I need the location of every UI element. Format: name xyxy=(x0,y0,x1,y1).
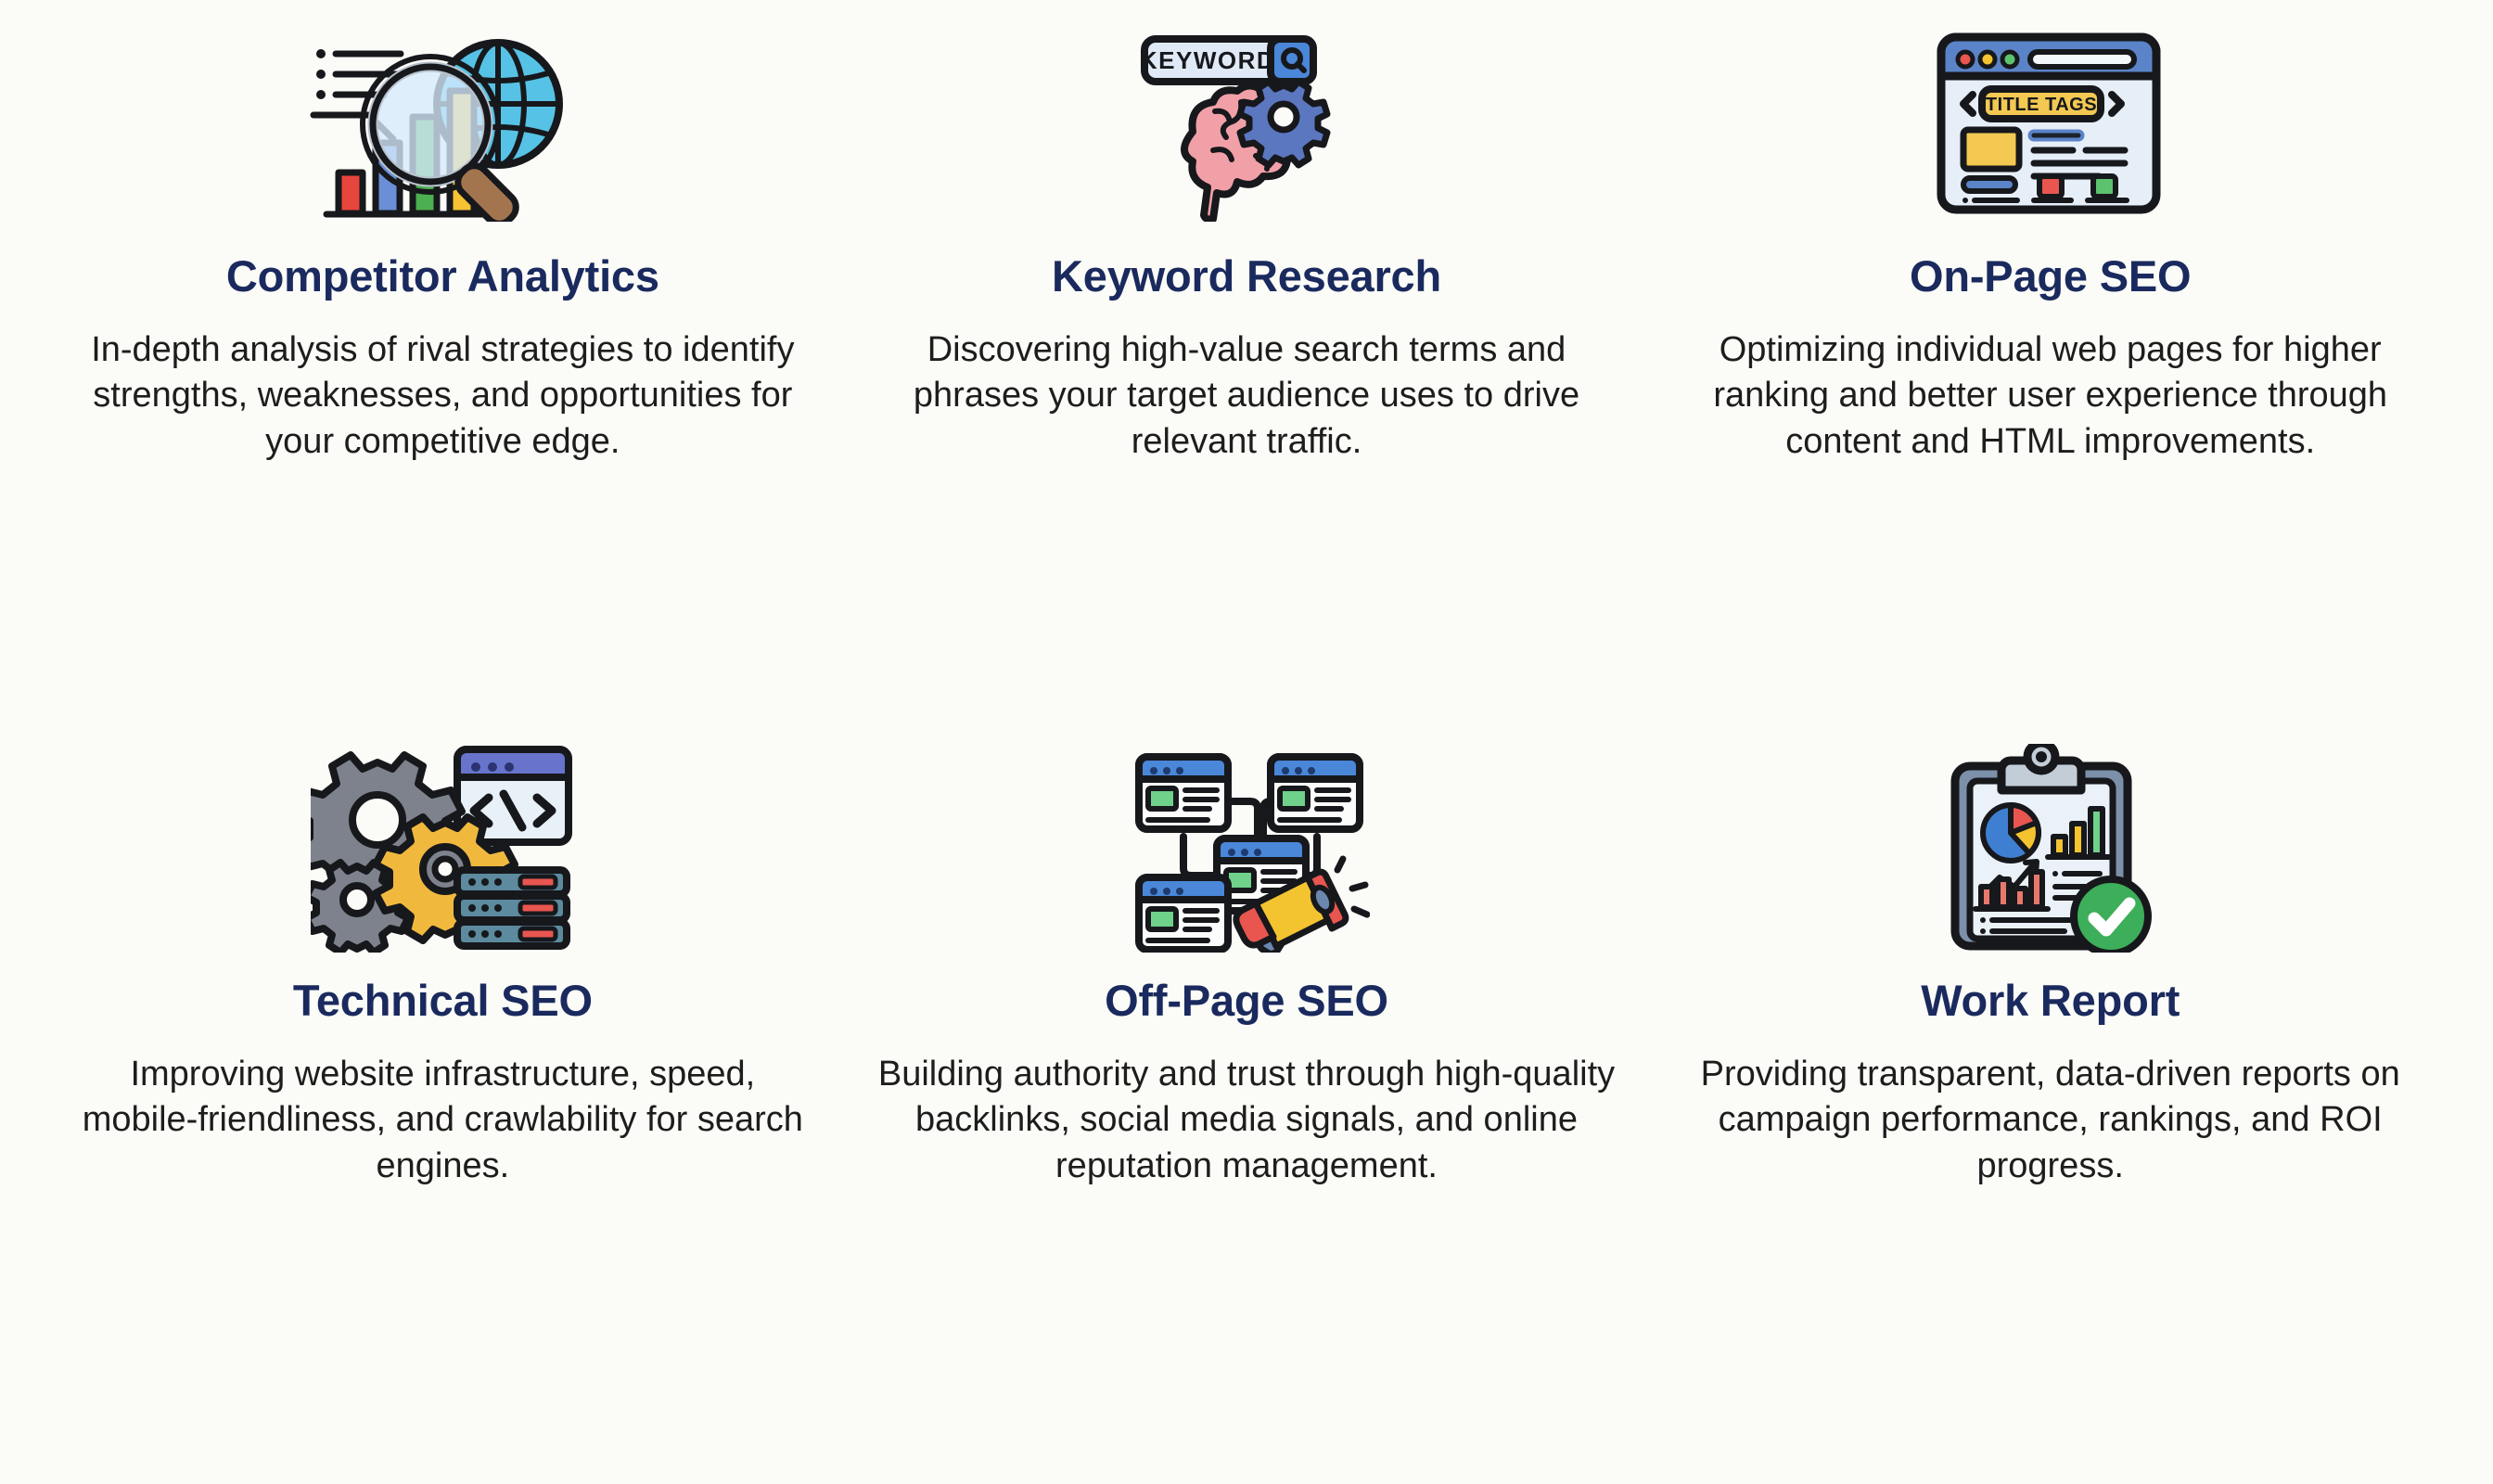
card-title: Technical SEO xyxy=(293,976,593,1026)
card-title: Competitor Analytics xyxy=(226,251,659,301)
card-description: Optimizing individual web pages for high… xyxy=(1680,327,2421,465)
feature-row-bottom: Technical SEO Improving website infrastr… xyxy=(41,744,2452,1456)
keyword-icon-label: KEYWORD xyxy=(1140,46,1275,74)
technical-seo-icon xyxy=(311,744,575,957)
card-title: Off-Page SEO xyxy=(1105,976,1388,1026)
title-tags-icon-label: TITLE TAGS xyxy=(1986,95,2097,115)
card-description: Building authority and trust through hig… xyxy=(876,1052,1617,1189)
off-page-seo-icon xyxy=(1124,744,1370,957)
feature-card-off-page-seo[interactable]: Off-Page SEO Building authority and trus… xyxy=(845,744,1649,1456)
card-description: In-depth analysis of rival strategies to… xyxy=(72,327,813,465)
work-report-icon xyxy=(1935,744,2167,957)
card-title: Work Report xyxy=(1921,976,2180,1026)
feature-row-top: Competitor Analytics In-depth analysis o… xyxy=(41,32,2452,744)
card-description: Improving website infrastructure, speed,… xyxy=(72,1052,813,1189)
on-page-seo-icon: TITLE TAGS xyxy=(1932,32,2168,231)
competitor-analytics-icon xyxy=(308,32,577,231)
card-description: Providing transparent, data-driven repor… xyxy=(1680,1052,2421,1189)
keyword-research-icon: KEYWORD xyxy=(1126,32,1367,231)
feature-card-technical-seo[interactable]: Technical SEO Improving website infrastr… xyxy=(41,744,845,1456)
card-title: On-Page SEO xyxy=(1910,251,2191,301)
feature-grid-page: Competitor Analytics In-depth analysis o… xyxy=(0,0,2493,1484)
feature-card-competitor-analytics[interactable]: Competitor Analytics In-depth analysis o… xyxy=(41,32,845,744)
feature-card-on-page-seo[interactable]: TITLE TAGS xyxy=(1648,32,2452,744)
feature-card-work-report[interactable]: Work Report Providing transparent, data-… xyxy=(1648,744,2452,1456)
feature-card-keyword-research[interactable]: KEYWORD xyxy=(845,32,1649,744)
card-description: Discovering high-value search terms and … xyxy=(876,327,1617,465)
card-title: Keyword Research xyxy=(1052,251,1441,301)
